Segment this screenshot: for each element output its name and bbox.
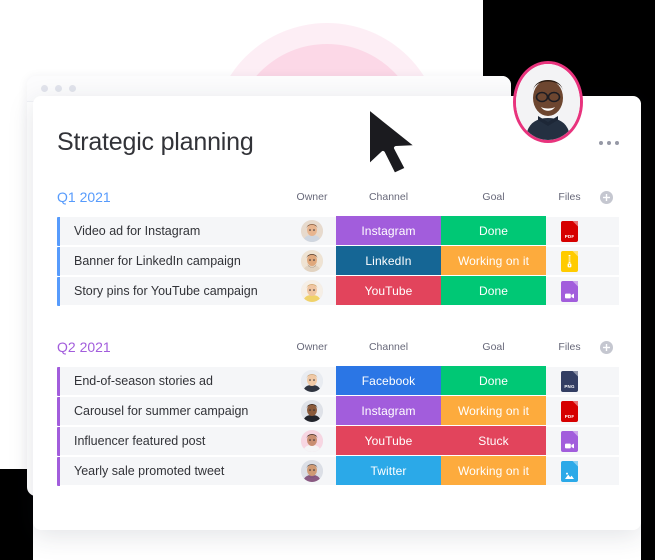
column-header-owner[interactable]: Owner <box>288 191 336 203</box>
file-chip-zip[interactable] <box>561 251 578 272</box>
table-row[interactable]: Banner for LinkedIn campaignLinkedInWork… <box>57 247 619 277</box>
add-column-icon[interactable] <box>593 191 619 204</box>
row-files-cell[interactable] <box>546 247 593 276</box>
owner-avatar-man-bearded-gray[interactable] <box>301 460 323 482</box>
row-goal-cell[interactable]: Working on it <box>441 247 546 276</box>
table-row[interactable]: Story pins for YouTube campaignYouTubeDo… <box>57 277 619 307</box>
file-chip-pdf[interactable]: PDF <box>561 401 578 422</box>
file-corner-fold <box>572 281 578 287</box>
group-title-q2[interactable]: Q2 2021 <box>57 339 111 355</box>
file-chip-video[interactable] <box>561 281 578 302</box>
file-corner-fold <box>572 461 578 467</box>
window-dot-green <box>69 85 76 92</box>
row-owner-cell[interactable] <box>288 367 336 396</box>
row-owner-cell[interactable] <box>288 427 336 456</box>
background-block-right <box>641 103 655 560</box>
column-header-channel[interactable]: Channel <box>336 341 441 353</box>
channel-badge[interactable]: LinkedIn <box>336 246 441 276</box>
window-dot-yellow <box>55 85 62 92</box>
file-corner-fold <box>572 401 578 407</box>
column-header-files[interactable]: Files <box>546 191 593 203</box>
row-channel-cell[interactable]: Twitter <box>336 457 441 486</box>
row-tail-cell <box>593 367 619 396</box>
channel-badge[interactable]: Instagram <box>336 216 441 246</box>
file-chip-video[interactable] <box>561 431 578 452</box>
row-goal-cell[interactable]: Working on it <box>441 397 546 426</box>
row-channel-cell[interactable]: YouTube <box>336 277 441 306</box>
row-owner-cell[interactable] <box>288 397 336 426</box>
row-item-name[interactable]: Story pins for YouTube campaign <box>60 277 288 306</box>
board-more-options-icon[interactable] <box>599 130 619 145</box>
row-channel-cell[interactable]: Instagram <box>336 217 441 246</box>
row-tail-cell <box>593 217 619 246</box>
row-item-name[interactable]: End-of-season stories ad <box>60 367 288 396</box>
channel-badge[interactable]: Instagram <box>336 396 441 426</box>
row-files-cell[interactable] <box>546 457 593 486</box>
page-title: Strategic planning <box>57 130 254 155</box>
row-goal-cell[interactable]: Done <box>441 217 546 246</box>
status-badge[interactable]: Working on it <box>441 396 546 426</box>
owner-avatar-woman-blonde[interactable] <box>301 280 323 302</box>
table-row[interactable]: Video ad for InstagramInstagramDonePDF <box>57 217 619 247</box>
row-tail-cell <box>593 457 619 486</box>
row-channel-cell[interactable]: Instagram <box>336 397 441 426</box>
row-files-cell[interactable] <box>546 427 593 456</box>
file-chip-png[interactable]: PNG <box>561 371 578 392</box>
row-channel-cell[interactable]: LinkedIn <box>336 247 441 276</box>
status-badge[interactable]: Done <box>441 276 546 306</box>
column-header-channel[interactable]: Channel <box>336 191 441 203</box>
status-badge[interactable]: Done <box>441 366 546 396</box>
group-title-q1[interactable]: Q1 2021 <box>57 189 111 205</box>
owner-avatar-woman-glasses[interactable] <box>301 220 323 242</box>
owner-avatar-woman-dark[interactable] <box>301 430 323 452</box>
row-item-name[interactable]: Influencer featured post <box>60 427 288 456</box>
column-headers-q1: Owner Channel Goal Files <box>288 191 619 204</box>
file-corner-fold <box>572 221 578 227</box>
row-tail-cell <box>593 397 619 426</box>
promo-scene: Strategic planning Q1 2021 Owner Channel… <box>0 0 655 560</box>
table-row[interactable]: Influencer featured postYouTubeStuck <box>57 427 619 457</box>
profile-avatar[interactable] <box>513 61 583 143</box>
table-row[interactable]: Yearly sale promoted tweetTwitterWorking… <box>57 457 619 487</box>
row-item-name[interactable]: Video ad for Instagram <box>60 217 288 246</box>
board-window: Strategic planning Q1 2021 Owner Channel… <box>33 96 641 530</box>
more-dot-2 <box>607 141 611 145</box>
column-header-files[interactable]: Files <box>546 341 593 353</box>
status-badge[interactable]: Done <box>441 216 546 246</box>
file-chip-image[interactable] <box>561 461 578 482</box>
row-files-cell[interactable]: PDF <box>546 397 593 426</box>
row-owner-cell[interactable] <box>288 277 336 306</box>
add-column-icon[interactable] <box>593 341 619 354</box>
table-row[interactable]: End-of-season stories adFacebookDonePNG <box>57 367 619 397</box>
row-tail-cell <box>593 277 619 306</box>
more-dot-1 <box>599 141 603 145</box>
window-dot-red <box>41 85 48 92</box>
row-owner-cell[interactable] <box>288 217 336 246</box>
channel-badge[interactable]: YouTube <box>336 426 441 456</box>
owner-avatar-man-dark[interactable] <box>301 400 323 422</box>
group-q2: Q2 2021 Owner Channel Goal Files End <box>33 336 641 487</box>
group-header-q2: Q2 2021 Owner Channel Goal Files <box>57 336 619 358</box>
group-header-q1: Q1 2021 Owner Channel Goal Files <box>57 186 619 208</box>
file-chip-pdf[interactable]: PDF <box>561 221 578 242</box>
column-headers-q2: Owner Channel Goal Files <box>288 341 619 354</box>
row-tail-cell <box>593 247 619 276</box>
channel-badge[interactable]: Twitter <box>336 456 441 486</box>
column-header-goal[interactable]: Goal <box>441 191 546 203</box>
row-item-name[interactable]: Carousel for summer campaign <box>60 397 288 426</box>
file-corner-fold <box>572 431 578 437</box>
row-files-cell[interactable]: PNG <box>546 367 593 396</box>
row-files-cell[interactable]: PDF <box>546 217 593 246</box>
row-goal-cell[interactable]: Working on it <box>441 457 546 486</box>
status-badge[interactable]: Working on it <box>441 456 546 486</box>
row-channel-cell[interactable]: YouTube <box>336 427 441 456</box>
row-goal-cell[interactable]: Done <box>441 367 546 396</box>
row-item-name[interactable]: Banner for LinkedIn campaign <box>60 247 288 276</box>
group-rows-q2: End-of-season stories adFacebookDonePNGC… <box>57 367 619 487</box>
more-dot-3 <box>615 141 619 145</box>
channel-badge[interactable]: YouTube <box>336 276 441 306</box>
row-goal-cell[interactable]: Done <box>441 277 546 306</box>
row-channel-cell[interactable]: Facebook <box>336 367 441 396</box>
row-item-name[interactable]: Yearly sale promoted tweet <box>60 457 288 486</box>
group-rows-q1: Video ad for InstagramInstagramDonePDFBa… <box>57 217 619 307</box>
owner-avatar-man-blond[interactable] <box>301 370 323 392</box>
table-row[interactable]: Carousel for summer campaignInstagramWor… <box>57 397 619 427</box>
column-header-owner[interactable]: Owner <box>288 341 336 353</box>
group-q1: Q1 2021 Owner Channel Goal Files Vid <box>33 186 641 307</box>
row-owner-cell[interactable] <box>288 457 336 486</box>
file-corner-fold <box>572 371 578 377</box>
column-header-goal[interactable]: Goal <box>441 341 546 353</box>
row-tail-cell <box>593 427 619 456</box>
row-owner-cell[interactable] <box>288 247 336 276</box>
channel-badge[interactable]: Facebook <box>336 366 441 396</box>
status-badge[interactable]: Stuck <box>441 426 546 456</box>
owner-avatar-man-beard[interactable] <box>301 250 323 272</box>
row-files-cell[interactable] <box>546 277 593 306</box>
status-badge[interactable]: Working on it <box>441 246 546 276</box>
row-goal-cell[interactable]: Stuck <box>441 427 546 456</box>
